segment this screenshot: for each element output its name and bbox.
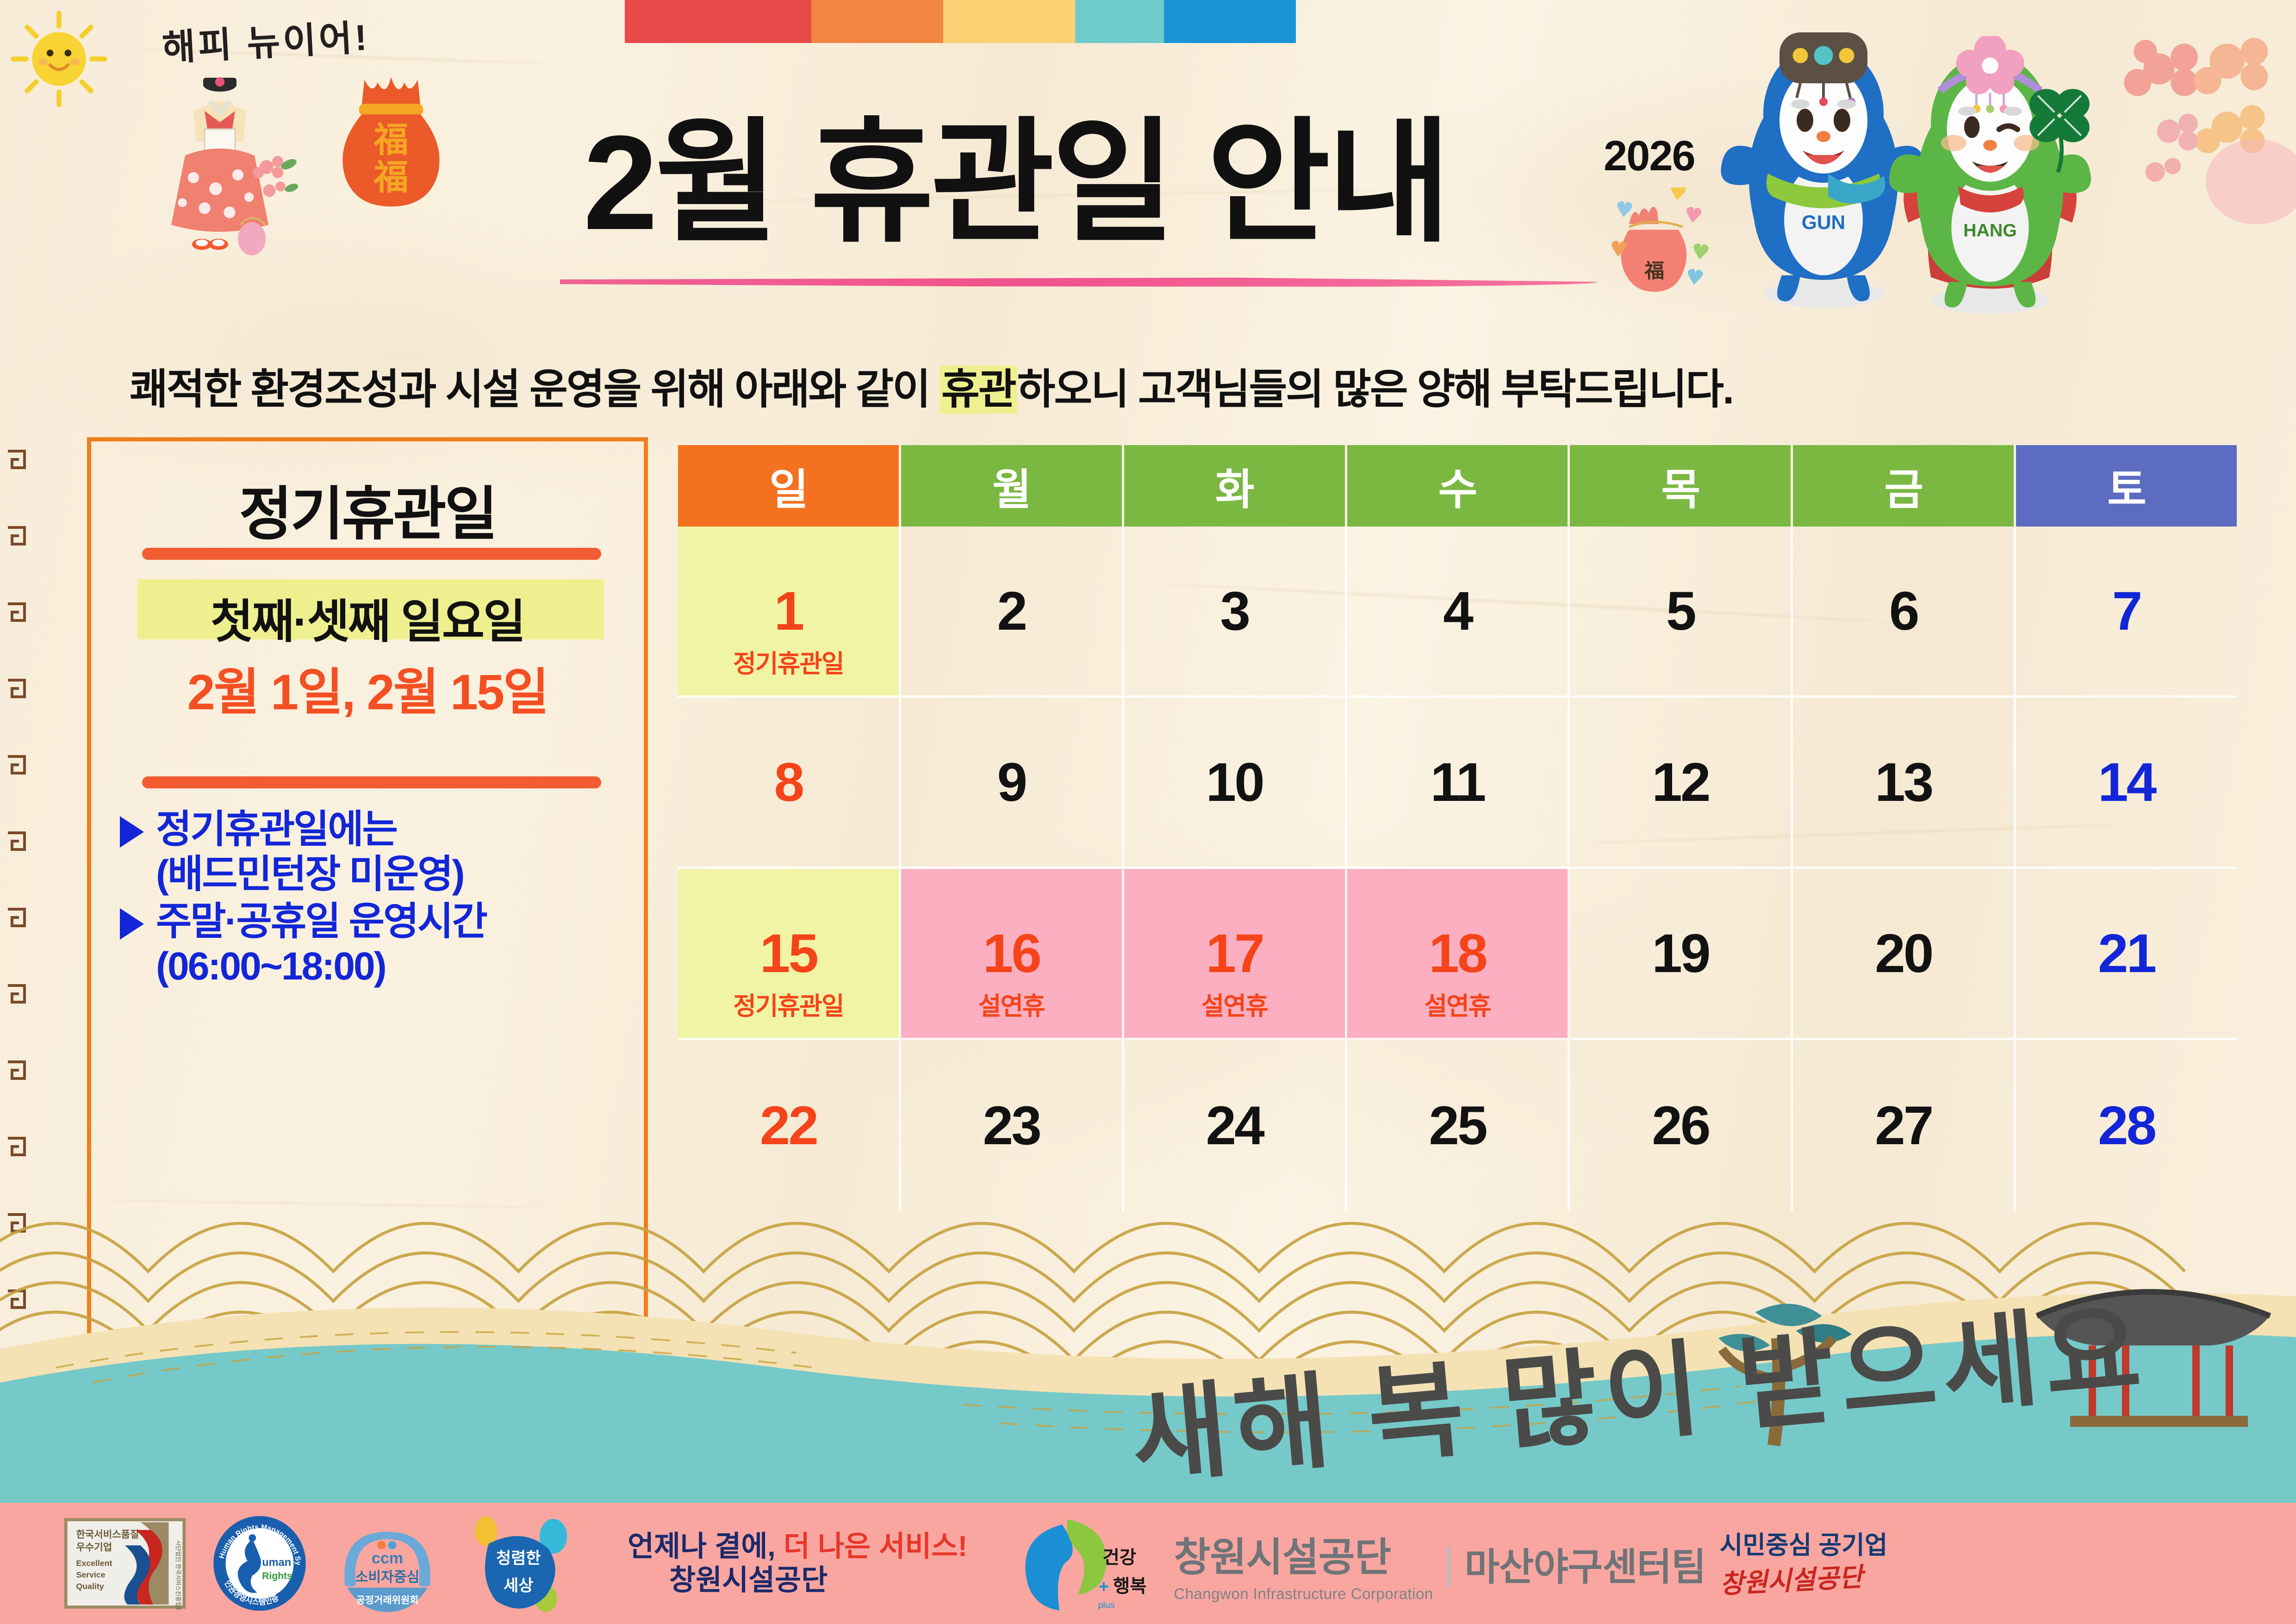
footer-slogan-part-a: 언제나 곁에, xyxy=(628,1531,784,1562)
calendar-day-cell-9[interactable]: 9 xyxy=(901,698,1124,869)
top-color-bar xyxy=(625,0,1296,43)
footer-tagline-block: 시민중심 공기업 창원시설공단 xyxy=(1720,1531,1888,1596)
cherry-blossom-decoration-icon xyxy=(2110,28,2296,227)
calendar-day-label: 정기휴관일 xyxy=(678,643,899,680)
svg-text:우수기업: 우수기업 xyxy=(76,1542,112,1553)
calendar-day-number: 12 xyxy=(1652,755,1709,810)
calendar-day-number: 3 xyxy=(1220,584,1249,638)
footer-slogan-line-2: 창원시설공단 xyxy=(669,1563,967,1597)
calendar-day-cell-5[interactable]: 5 xyxy=(1570,527,1793,698)
calendar-day-number: 15 xyxy=(760,926,817,981)
bullet-item-1: 정기휴관일에는 (배드민턴장 미운영) xyxy=(120,807,638,897)
sun-icon xyxy=(9,9,109,109)
calendar-day-cell-7[interactable]: 7 xyxy=(2016,527,2237,698)
bullet-2-line-2: (06:00~18:00) xyxy=(156,944,486,989)
calendar-day-number: 23 xyxy=(983,1098,1040,1153)
calendar-day-cell-13[interactable]: 13 xyxy=(1793,698,2016,869)
footer-bar: 한국서비스품질 우수기업 Excellent Service Quality 사… xyxy=(0,1503,2296,1624)
color-swatch-red xyxy=(625,0,811,43)
calendar-day-number: 5 xyxy=(1666,584,1695,638)
calendar-day-number: 17 xyxy=(1206,926,1263,981)
footer-slogan-line-1: 언제나 곁에, 더 나은 서비스! xyxy=(628,1530,967,1563)
footer-tagline: 시민중심 공기업 xyxy=(1720,1531,1888,1561)
svg-text:+: + xyxy=(1099,1577,1108,1596)
color-swatch-blue xyxy=(1164,0,1296,43)
calendar-day-number: 25 xyxy=(1429,1098,1486,1153)
calendar-day-number: 1 xyxy=(774,584,803,638)
svg-text:plus: plus xyxy=(1098,1600,1115,1610)
cert-service-quality-logo: 한국서비스품질 우수기업 Excellent Service Quality 사… xyxy=(60,1517,190,1610)
calendar-week-row: 891011121314 xyxy=(678,698,2237,869)
calendar-day-label: 정기휴관일 xyxy=(678,986,899,1022)
schedule-rule-text: 첫째·셋째 일요일 xyxy=(91,584,644,651)
calendar-weekday-header-2: 화 xyxy=(1124,445,1347,527)
blossom-decoration-icon xyxy=(250,153,305,204)
svg-text:福: 福 xyxy=(373,121,408,160)
calendar-day-number: 19 xyxy=(1652,926,1709,981)
color-swatch-yellow xyxy=(943,0,1075,43)
calendar-day-number: 26 xyxy=(1652,1098,1709,1153)
calendar-day-cell-16[interactable]: 16설연휴 xyxy=(901,869,1124,1040)
mascot-hang-label: HANG xyxy=(1963,220,2017,241)
subtitle-part-2: 하오니 고객님들의 많은 양해 부탁드립니다. xyxy=(1017,366,1733,413)
color-swatch-teal xyxy=(1075,0,1164,43)
footer-slogan-block: 언제나 곁에, 더 나은 서비스! 창원시설공단 xyxy=(628,1530,967,1597)
calendar-day-cell-4[interactable]: 4 xyxy=(1347,527,1570,698)
calendar-day-number: 14 xyxy=(2098,755,2155,810)
calendar-day-number: 2 xyxy=(997,584,1026,638)
calendar-day-number: 8 xyxy=(774,755,803,810)
closure-dates-text: 2월 1일, 2월 15일 xyxy=(91,652,644,724)
bullet-item-2: 주말·공휴일 운영시간 (06:00~18:00) xyxy=(120,899,638,989)
bullet-1-line-1: 정기휴관일에는 xyxy=(156,807,464,852)
calendar-day-number: 16 xyxy=(983,926,1040,981)
calendar-day-number: 21 xyxy=(2098,926,2155,981)
calendar-day-number: 24 xyxy=(1206,1098,1263,1153)
fortune-bag-icon: 福 福 xyxy=(324,72,458,211)
calendar-day-cell-20[interactable]: 20 xyxy=(1793,869,2016,1040)
calendar-day-number: 10 xyxy=(1206,755,1263,810)
color-swatch-orange xyxy=(811,0,943,43)
clover-icon xyxy=(2018,79,2101,176)
small-fortune-bag-icon: 福 xyxy=(1611,187,1712,303)
svg-text:한국서비스품질: 한국서비스품질 xyxy=(76,1529,139,1540)
calendar-weekday-header-6: 토 xyxy=(2016,445,2237,527)
calendar-week-row: 1정기휴관일234567 xyxy=(678,527,2237,698)
cert-human-rights-logo: uman Rights Human Rights Management Syst… xyxy=(206,1515,313,1612)
calendar-week-row: 15정기휴관일16설연휴17설연휴18설연휴192021 xyxy=(678,869,2237,1040)
footer-slogan-part-b: 더 나은 서비스! xyxy=(784,1531,967,1562)
calendar-day-number: 28 xyxy=(2098,1098,2155,1153)
cert-clean-world-logo: 청렴한 세상 xyxy=(462,1514,578,1613)
subtitle-notice: 쾌적한 환경조성과 시설 운영을 위해 아래와 같이 휴관하오니 고객님들의 많… xyxy=(130,355,2166,415)
calendar-weekday-header-1: 월 xyxy=(901,445,1124,527)
calendar-body: 1정기휴관일23456789101112131415정기휴관일16설연휴17설연… xyxy=(678,527,2237,1211)
bullet-2-line-1: 주말·공휴일 운영시간 xyxy=(156,899,486,944)
bullet-list: 정기휴관일에는 (배드민턴장 미운영) 주말·공휴일 운영시간 (06:00~1… xyxy=(120,807,638,991)
calendar-weekday-header-4: 목 xyxy=(1570,445,1793,527)
calendar-day-cell-12[interactable]: 12 xyxy=(1570,698,1793,869)
panel-divider-top xyxy=(142,548,601,560)
bullet-1-line-2: (배드민턴장 미운영) xyxy=(156,852,464,897)
mascot-gun-label: GUN xyxy=(1802,212,1845,234)
calendar-day-number: 18 xyxy=(1429,926,1486,981)
footer-org-name-en: Changwon Infrastructure Corporation xyxy=(1174,1585,1433,1603)
greeting-text: 해피 뉴이어! xyxy=(161,8,371,71)
calendar-weekday-header-5: 금 xyxy=(1793,445,2016,527)
svg-text:소비자중심: 소비자중심 xyxy=(355,1569,420,1585)
calendar-day-number: 6 xyxy=(1889,584,1918,638)
calendar-weekday-header-3: 수 xyxy=(1347,445,1570,527)
svg-text:청렴한: 청렴한 xyxy=(496,1549,541,1567)
calendar-day-cell-6[interactable]: 6 xyxy=(1793,527,2016,698)
calendar-day-cell-17[interactable]: 17설연휴 xyxy=(1124,869,1347,1040)
calendar-day-label: 설연휴 xyxy=(1347,986,1568,1022)
calendar-header-row: 일월화수목금토 xyxy=(678,445,2237,527)
calendar-day-number: 22 xyxy=(760,1098,817,1153)
subtitle-part-1: 쾌적한 환경조성과 시설 운영을 위해 아래와 같이 xyxy=(130,366,940,413)
title-year-badge: 2026 xyxy=(1604,132,1695,180)
svg-text:세상: 세상 xyxy=(504,1576,533,1594)
calendar-day-cell-19[interactable]: 19 xyxy=(1570,869,1793,1040)
footer-team-name: 마산야구센터팀 xyxy=(1465,1536,1706,1591)
footer-org-name: 창원시설공단 xyxy=(1174,1525,1433,1582)
footer-org-block: 창원시설공단 Changwon Infrastructure Corporati… xyxy=(1174,1525,1705,1603)
poster-root: 해피 뉴이어! 福 福 xyxy=(0,0,2296,1624)
calendar-day-cell-21[interactable]: 21 xyxy=(2016,869,2237,1040)
calendar-day-label: 설연휴 xyxy=(901,986,1122,1022)
calendar-day-number: 9 xyxy=(997,755,1026,810)
calendar-day-number: 27 xyxy=(1875,1098,1932,1153)
svg-text:ccm: ccm xyxy=(372,1550,403,1567)
svg-text:Rights: Rights xyxy=(262,1571,292,1581)
calendar-day-number: 4 xyxy=(1443,584,1472,638)
calendar-day-number: 13 xyxy=(1875,755,1932,810)
calendar-day-cell-18[interactable]: 18설연휴 xyxy=(1347,869,1570,1040)
calendar-day-cell-8[interactable]: 8 xyxy=(678,698,901,869)
calendar-day-number: 20 xyxy=(1875,926,1932,981)
calendar: 일월화수목금토 1정기휴관일23456789101112131415정기휴관일1… xyxy=(678,445,2237,1211)
health-happiness-plus-logo: 건강 + 행복 plus xyxy=(1010,1514,1153,1613)
info-panel-title: 정기휴관일 xyxy=(91,467,644,551)
calendar-day-cell-14[interactable]: 14 xyxy=(2016,698,2237,869)
calendar-day-cell-15[interactable]: 15정기휴관일 xyxy=(678,869,901,1040)
calendar-day-cell-10[interactable]: 10 xyxy=(1124,698,1347,869)
calendar-day-cell-2[interactable]: 2 xyxy=(901,527,1124,698)
svg-text:사단법인 한국서비스진흥협회: 사단법인 한국서비스진흥협회 xyxy=(175,1540,182,1610)
cert-ccm-logo: ccm 소비자중심 공정거래위원회 xyxy=(330,1515,445,1612)
calendar-day-cell-1[interactable]: 1정기휴관일 xyxy=(678,527,901,698)
triangle-bullet-icon xyxy=(120,816,144,848)
svg-text:Service: Service xyxy=(76,1570,105,1580)
svg-text:건강: 건강 xyxy=(1103,1547,1137,1568)
svg-text:공정거래위원회: 공정거래위원회 xyxy=(356,1595,418,1606)
svg-text:Quality: Quality xyxy=(76,1582,104,1591)
svg-text:Excellent: Excellent xyxy=(76,1559,112,1568)
calendar-day-cell-3[interactable]: 3 xyxy=(1124,527,1347,698)
calendar-day-cell-11[interactable]: 11 xyxy=(1347,698,1570,869)
svg-text:福: 福 xyxy=(373,159,408,197)
panel-divider-bottom xyxy=(142,776,601,788)
calendar-day-number: 7 xyxy=(2112,584,2141,638)
svg-text:행복: 행복 xyxy=(1113,1576,1147,1596)
svg-text:uman: uman xyxy=(262,1556,291,1568)
footer-divider: | xyxy=(1444,1539,1455,1588)
footer-brand-script: 창원시설공단 xyxy=(1719,1560,1888,1600)
triangle-bullet-icon xyxy=(120,908,144,940)
title-underline-decoration xyxy=(560,278,1597,287)
calendar-weekday-header-0: 일 xyxy=(678,445,901,527)
calendar-day-label: 설연휴 xyxy=(1124,986,1345,1022)
svg-text:福: 福 xyxy=(1644,260,1664,282)
calendar-day-number: 11 xyxy=(1431,755,1485,810)
subtitle-highlight: 휴관 xyxy=(940,366,1017,414)
